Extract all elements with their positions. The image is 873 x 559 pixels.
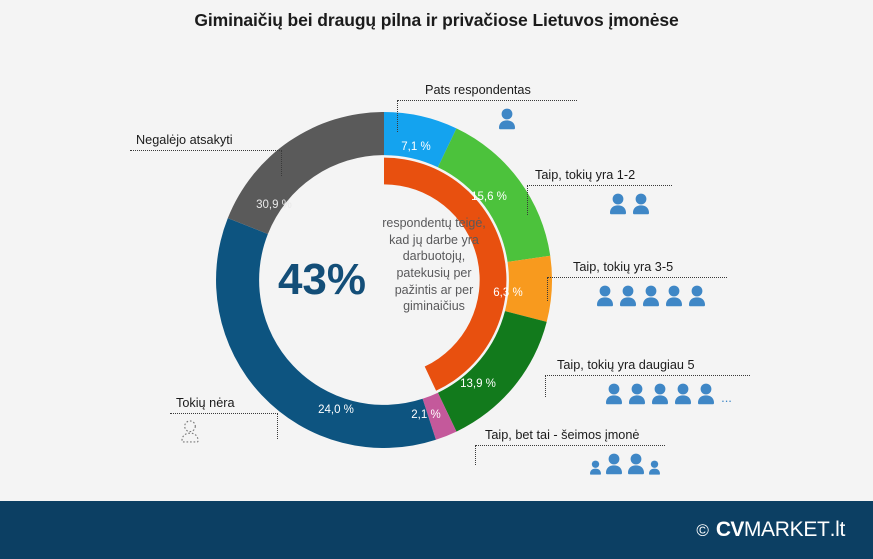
person-icon-child [647,459,662,477]
person-icon [603,382,625,407]
callout-label: Negalėjo atsakyti [130,133,282,150]
callout-negalejo-atsakyti[interactable]: Negalėjo atsakyti [130,133,282,151]
callout-stem [397,100,398,132]
person-icon [663,284,685,309]
person-icon [594,284,616,309]
legend-icons-1-2 [527,191,672,217]
person-icon [649,382,671,407]
person-icon [496,107,518,132]
slice-value-1-2: 15,6 % [471,191,507,203]
callout-label: Taip, tokių yra 3-5 [547,260,727,277]
person-icon [672,382,694,407]
infographic-canvas: Giminaičių bei draugų pilna ir privačios… [0,0,873,559]
callout-stem [277,413,278,439]
person-icon-child [588,459,603,477]
center-description: respondentų teigė, kad jų darbe yra darb… [378,215,490,315]
callout-rule [130,150,282,151]
copyright-icon: © [696,522,709,539]
callout-taip-daugiau-5[interactable]: Taip, tokių yra daugiau 5 [545,358,750,407]
page-title: Giminaičių bei draugų pilna ir privačios… [0,10,873,31]
logo-tld-text: .lt [830,518,845,542]
callout-taip-seimos-imone[interactable]: Taip, bet tai - šeimos įmonė [475,428,665,477]
legend-icons-tokiu-nera [170,419,278,445]
callout-label: Pats respondentas [397,83,577,100]
logo-cv-text: CV [716,518,744,542]
person-icon [695,382,717,407]
callout-stem [527,185,528,215]
callout-tokiu-nera[interactable]: Tokių nėra [170,396,278,445]
callout-label: Tokių nėra [170,396,278,413]
person-icon-adult [625,452,647,477]
slice-value-tokiu-nera: 24,0 % [318,404,354,416]
footer-bar: © CVMARKET.lt [0,501,873,559]
slice-value-seimos: 2,1 % [411,409,440,421]
legend-icons-pats [397,106,577,132]
slice-value-negalejo: 30,9 % [256,199,292,211]
person-outline-icon [178,419,202,445]
person-icon [640,284,662,309]
callout-rule [547,277,727,278]
slice-value-3-5: 6,3 % [493,287,522,299]
callout-rule [545,375,750,376]
logo-market-text: MARKET [744,518,830,542]
callout-pats-respondentas[interactable]: Pats respondentas [397,83,577,132]
slice-negalejo-atsakyti[interactable] [228,112,384,234]
legend-icons-seimos [475,451,665,477]
callout-rule [527,185,672,186]
person-icon [630,192,652,217]
legend-icons-3-5 [547,283,727,309]
legend-icons-daugiau-5: ... [545,381,750,407]
center-percentage: 43% [252,258,392,302]
callout-stem [545,375,546,397]
person-icon [626,382,648,407]
callout-rule [170,413,278,414]
person-icon [617,284,639,309]
slice-value-pats: 7,1 % [401,141,430,153]
ellipsis-icon: ... [721,391,732,407]
callout-rule [475,445,665,446]
callout-stem [281,150,282,176]
callout-taip-1-2[interactable]: Taip, tokių yra 1-2 [527,168,672,217]
slice-value-daugiau-5: 13,9 % [460,378,496,390]
callout-label: Taip, bet tai - šeimos įmonė [475,428,665,445]
callout-rule [397,100,577,101]
footer-logo[interactable]: © CVMARKET.lt [696,518,845,542]
callout-stem [547,277,548,301]
callout-taip-3-5[interactable]: Taip, tokių yra 3-5 [547,260,727,309]
callout-label: Taip, tokių yra daugiau 5 [545,358,750,375]
callout-stem [475,445,476,465]
person-icon [607,192,629,217]
person-icon-adult [603,452,625,477]
callout-label: Taip, tokių yra 1-2 [527,168,672,185]
person-icon [686,284,708,309]
